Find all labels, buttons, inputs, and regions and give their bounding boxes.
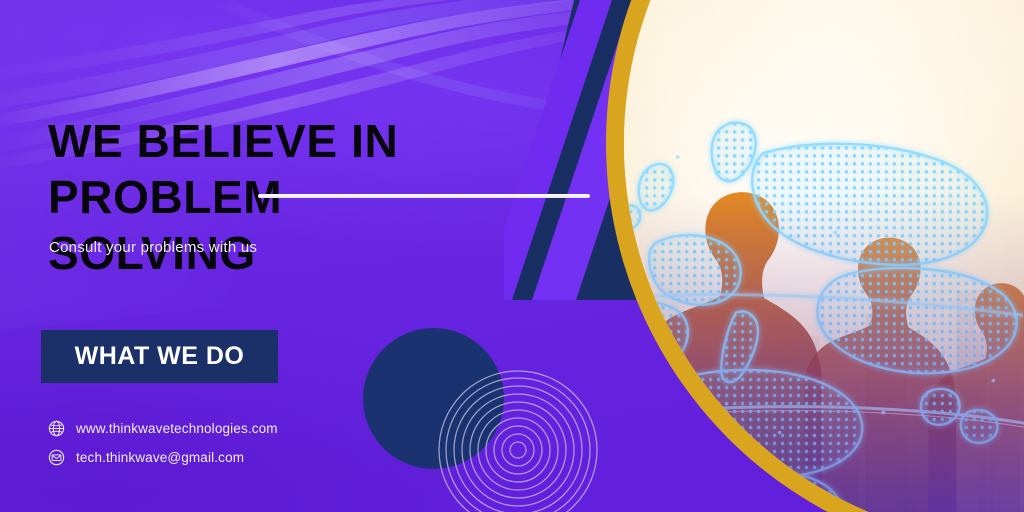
contact-website[interactable]: www.thinkwavetechnologies.com	[48, 416, 278, 441]
what-we-do-button[interactable]: WHAT WE DO	[41, 330, 278, 383]
what-we-do-button-label: WHAT WE DO	[75, 342, 245, 371]
title-divider	[258, 194, 590, 198]
text-content: WE BELIEVE IN PROBLEM SOLVING Consult yo…	[0, 0, 620, 512]
email-text: tech.thinkwave@gmail.com	[76, 450, 244, 465]
envelope-icon	[48, 449, 65, 466]
website-text: www.thinkwavetechnologies.com	[76, 421, 278, 436]
headline-line-1: WE BELIEVE IN PROBLEM	[48, 115, 398, 223]
contact-list: www.thinkwavetechnologies.com tech.think…	[48, 416, 278, 474]
contact-email[interactable]: tech.thinkwave@gmail.com	[48, 445, 278, 470]
promo-banner: WE BELIEVE IN PROBLEM SOLVING Consult yo…	[0, 0, 1024, 512]
subtitle: Consult your problems with us	[49, 239, 257, 256]
globe-icon	[48, 420, 65, 437]
